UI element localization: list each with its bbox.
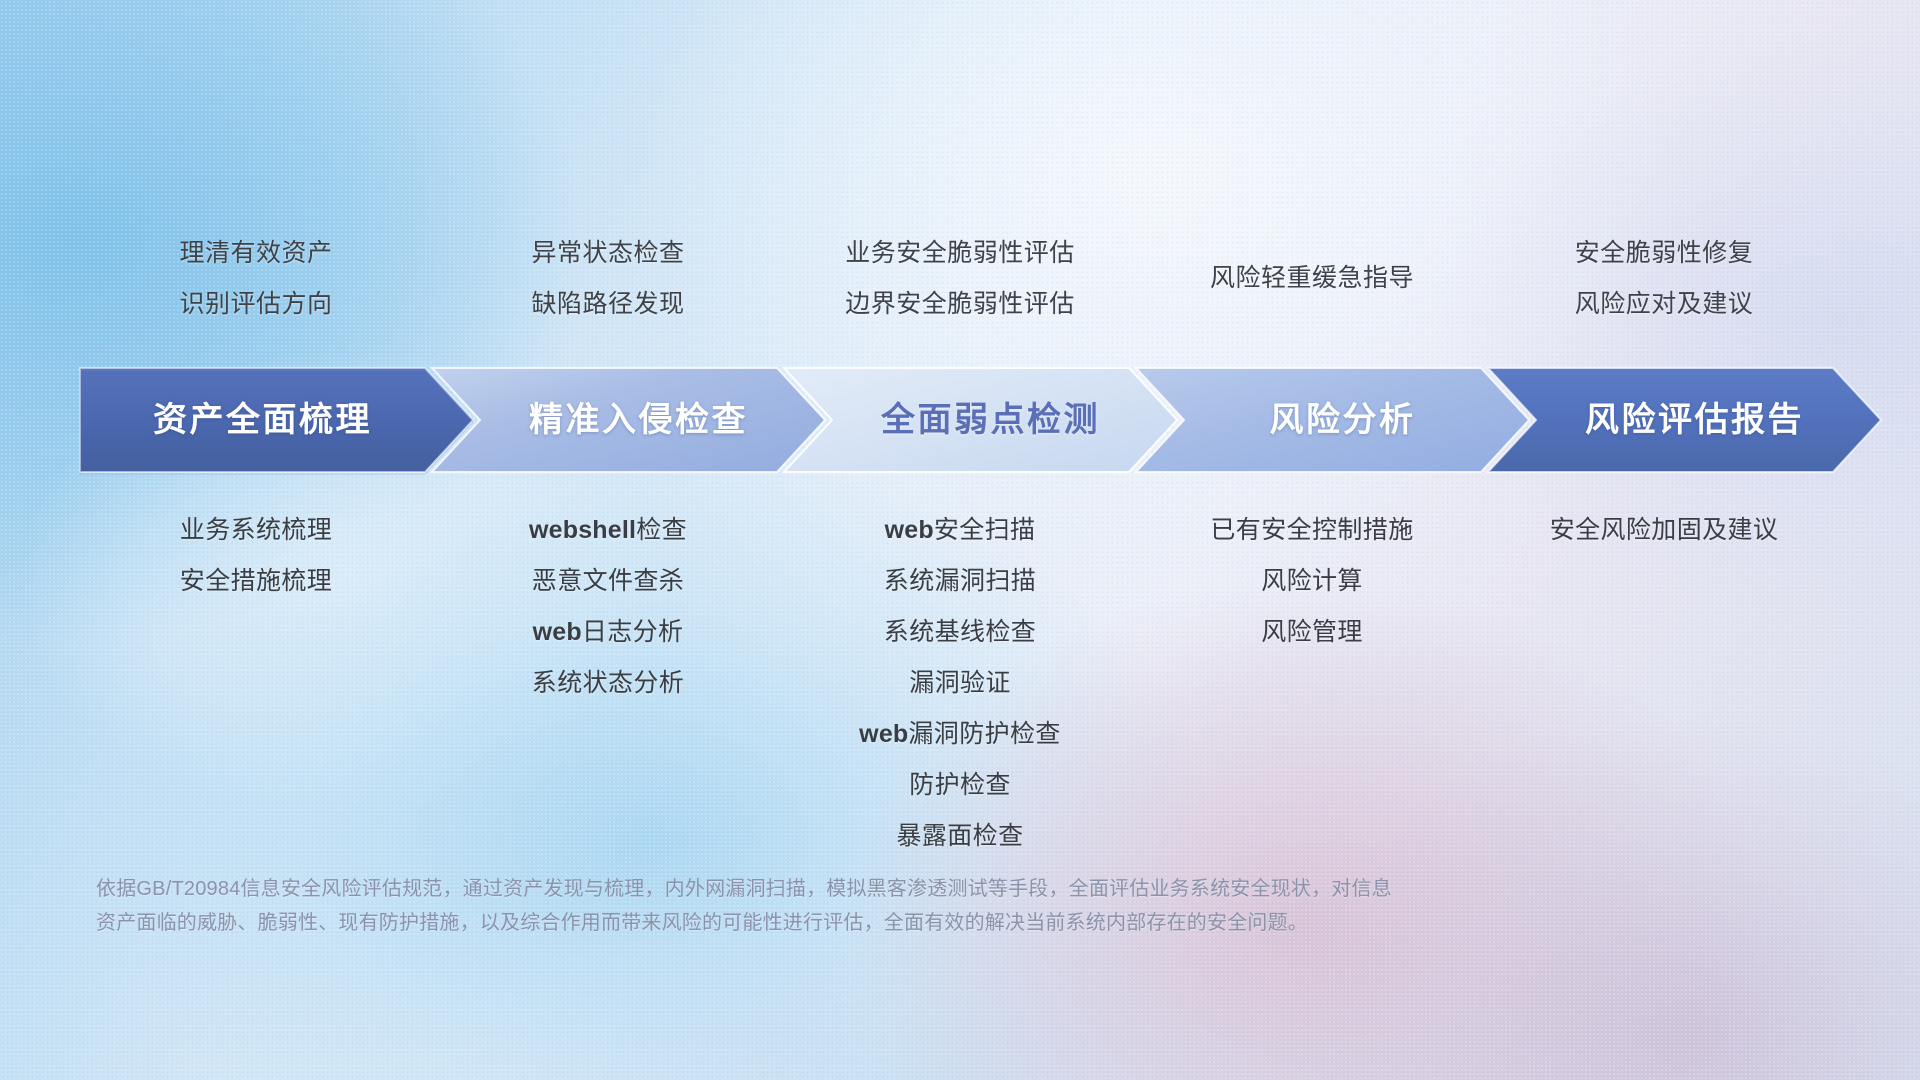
chevron-label: 资产全面梳理 [153, 403, 372, 437]
chevron-stage-risk-report[interactable]: 风险评估报告 [1488, 368, 1881, 472]
bottom-label-line: 系统漏洞扫描 [884, 556, 1036, 607]
top-labels-risk-report: 安全脆弱性修复 风险应对及建议 [1488, 228, 1840, 330]
chevron-stage-risk-analysis[interactable]: 风险分析 [1136, 368, 1529, 472]
top-labels-weakness-detection: 业务安全脆弱性评估 边界安全脆弱性评估 [784, 228, 1136, 330]
chevron-stage-weakness-detection[interactable]: 全面弱点检测 [784, 368, 1177, 472]
top-label-line: 边界安全脆弱性评估 [845, 279, 1075, 330]
footer-description: 依据GB/T20984信息安全风险评估规范，通过资产发现与梳理，内外网漏洞扫描，… [96, 872, 1736, 940]
chevron-label: 精准入侵检查 [529, 403, 748, 437]
chevron-label: 风险评估报告 [1585, 403, 1804, 437]
bottom-labels-weakness-detection: web安全扫描 系统漏洞扫描 系统基线检查 漏洞验证 web漏洞防护检查 防护检… [784, 505, 1136, 862]
bottom-label-line: 已有安全控制措施 [1210, 505, 1413, 556]
top-labels-asset-inventory: 理清有效资产 识别评估方向 [80, 228, 432, 330]
bottom-label-line: 业务系统梳理 [180, 505, 332, 556]
top-label-line: 风险轻重缓急指导 [1210, 253, 1414, 304]
bottom-label-line: webshell检查 [529, 505, 687, 556]
top-label-line: 缺陷路径发现 [531, 279, 684, 330]
top-label-line: 识别评估方向 [179, 279, 332, 330]
top-label-line: 异常状态检查 [531, 228, 684, 279]
top-label-line: 理清有效资产 [179, 228, 332, 279]
bottom-labels-intrusion-check: webshell检查 恶意文件查杀 web日志分析 系统状态分析 [432, 505, 784, 862]
top-label-line: 安全脆弱性修复 [1575, 228, 1754, 279]
bottom-label-line: 漏洞验证 [909, 658, 1011, 709]
bottom-label-line: 系统基线检查 [884, 607, 1036, 658]
bottom-label-line: 风险计算 [1261, 556, 1363, 607]
latin-emphasis: web [859, 720, 908, 748]
bottom-label-line: 恶意文件查杀 [532, 556, 684, 607]
latin-emphasis: web [885, 516, 934, 544]
chevron-stage-asset-inventory[interactable]: 资产全面梳理 [80, 368, 473, 472]
bottom-label-line: web漏洞防护检查 [859, 709, 1061, 760]
footer-line-1: 依据GB/T20984信息安全风险评估规范，通过资产发现与梳理，内外网漏洞扫描，… [96, 872, 1736, 906]
top-label-line: 风险应对及建议 [1575, 279, 1754, 330]
slide-canvas: 理清有效资产 识别评估方向 异常状态检查 缺陷路径发现 业务安全脆弱性评估 边界… [0, 0, 1920, 1080]
bottom-labels-risk-analysis: 已有安全控制措施 风险计算 风险管理 [1136, 505, 1488, 862]
bottom-labels-asset-inventory: 业务系统梳理 安全措施梳理 [80, 505, 432, 862]
bottom-label-line: 安全风险加固及建议 [1550, 505, 1779, 556]
bottom-label-line: 安全措施梳理 [180, 556, 332, 607]
bottom-label-line: 系统状态分析 [532, 658, 684, 709]
chevron-label: 风险分析 [1270, 403, 1416, 437]
top-labels-risk-analysis: 风险轻重缓急指导 [1136, 228, 1488, 330]
latin-emphasis: web [533, 618, 582, 646]
bottom-label-line: 防护检查 [909, 760, 1011, 811]
chevron-label: 全面弱点检测 [881, 403, 1100, 437]
process-chevron-banner: 资产全面梳理 精准入侵检查 全面弱点检测 [80, 368, 1845, 472]
footer-line-2: 资产面临的威胁、脆弱性、现有防护措施，以及综合作用而带来风险的可能性进行评估，全… [96, 906, 1736, 940]
bottom-label-line: web安全扫描 [885, 505, 1036, 556]
latin-emphasis: webshell [529, 516, 636, 544]
bottom-label-line: 暴露面检查 [896, 811, 1023, 862]
top-label-line: 业务安全脆弱性评估 [845, 228, 1075, 279]
top-labels-row: 理清有效资产 识别评估方向 异常状态检查 缺陷路径发现 业务安全脆弱性评估 边界… [80, 228, 1840, 330]
bottom-label-line: 风险管理 [1261, 607, 1363, 658]
bottom-labels-risk-report: 安全风险加固及建议 [1488, 505, 1840, 862]
chevron-stage-intrusion-check[interactable]: 精准入侵检查 [432, 368, 825, 472]
bottom-labels-row: 业务系统梳理 安全措施梳理 webshell检查 恶意文件查杀 web日志分析 … [80, 505, 1840, 862]
top-labels-intrusion-check: 异常状态检查 缺陷路径发现 [432, 228, 784, 330]
bottom-label-line: web日志分析 [533, 607, 684, 658]
